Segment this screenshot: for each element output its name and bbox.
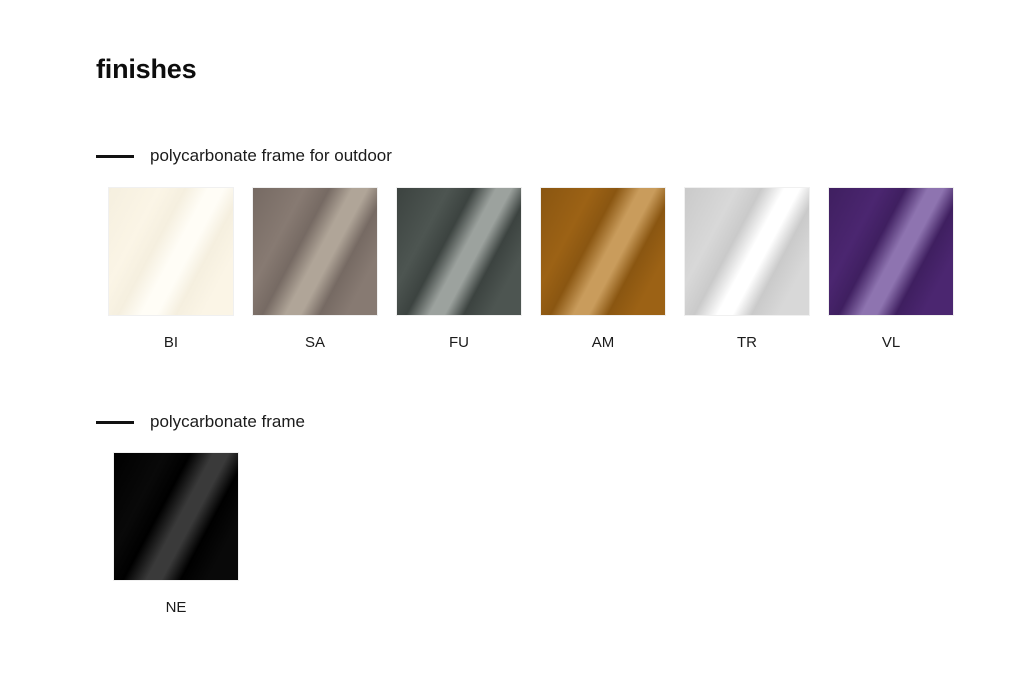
swatch-label: AM xyxy=(592,334,615,352)
swatch-chip-sa[interactable] xyxy=(253,188,377,315)
swatch-chip-tr[interactable] xyxy=(685,188,809,315)
swatch-label: BI xyxy=(164,334,178,352)
section-caption: polycarbonate frame for outdoor xyxy=(150,146,392,166)
swatch-cell-ne[interactable]: NE xyxy=(114,453,238,617)
gloss-overlay xyxy=(253,188,377,315)
swatch-chip-bi[interactable] xyxy=(109,188,233,315)
gloss-overlay xyxy=(114,453,238,580)
swatch-label: TR xyxy=(737,334,757,352)
gloss-overlay xyxy=(109,188,233,315)
swatch-label: FU xyxy=(449,334,469,352)
swatch-cell-fu[interactable]: FU xyxy=(397,188,521,352)
swatch-cell-am[interactable]: AM xyxy=(541,188,665,352)
section-rule-icon xyxy=(96,421,134,424)
section-header-indoor: polycarbonate frame xyxy=(96,412,305,432)
swatch-row-indoor: NE xyxy=(114,453,238,617)
swatch-chip-ne[interactable] xyxy=(114,453,238,580)
section-header-outdoor: polycarbonate frame for outdoor xyxy=(96,146,392,166)
swatch-label: NE xyxy=(166,599,187,617)
swatch-label: VL xyxy=(882,334,900,352)
gloss-overlay xyxy=(829,188,953,315)
gloss-overlay xyxy=(685,188,809,315)
swatch-chip-am[interactable] xyxy=(541,188,665,315)
section-rule-icon xyxy=(96,155,134,158)
section-caption: polycarbonate frame xyxy=(150,412,305,432)
gloss-overlay xyxy=(541,188,665,315)
page-title: finishes xyxy=(96,52,196,86)
swatch-chip-fu[interactable] xyxy=(397,188,521,315)
swatch-row-outdoor: BISAFUAMTRVL xyxy=(109,188,953,352)
swatch-chip-vl[interactable] xyxy=(829,188,953,315)
swatch-cell-tr[interactable]: TR xyxy=(685,188,809,352)
swatch-label: SA xyxy=(305,334,325,352)
swatch-cell-bi[interactable]: BI xyxy=(109,188,233,352)
gloss-overlay xyxy=(397,188,521,315)
finishes-page: finishes polycarbonate frame for outdoor… xyxy=(0,0,1024,683)
swatch-cell-sa[interactable]: SA xyxy=(253,188,377,352)
swatch-cell-vl[interactable]: VL xyxy=(829,188,953,352)
